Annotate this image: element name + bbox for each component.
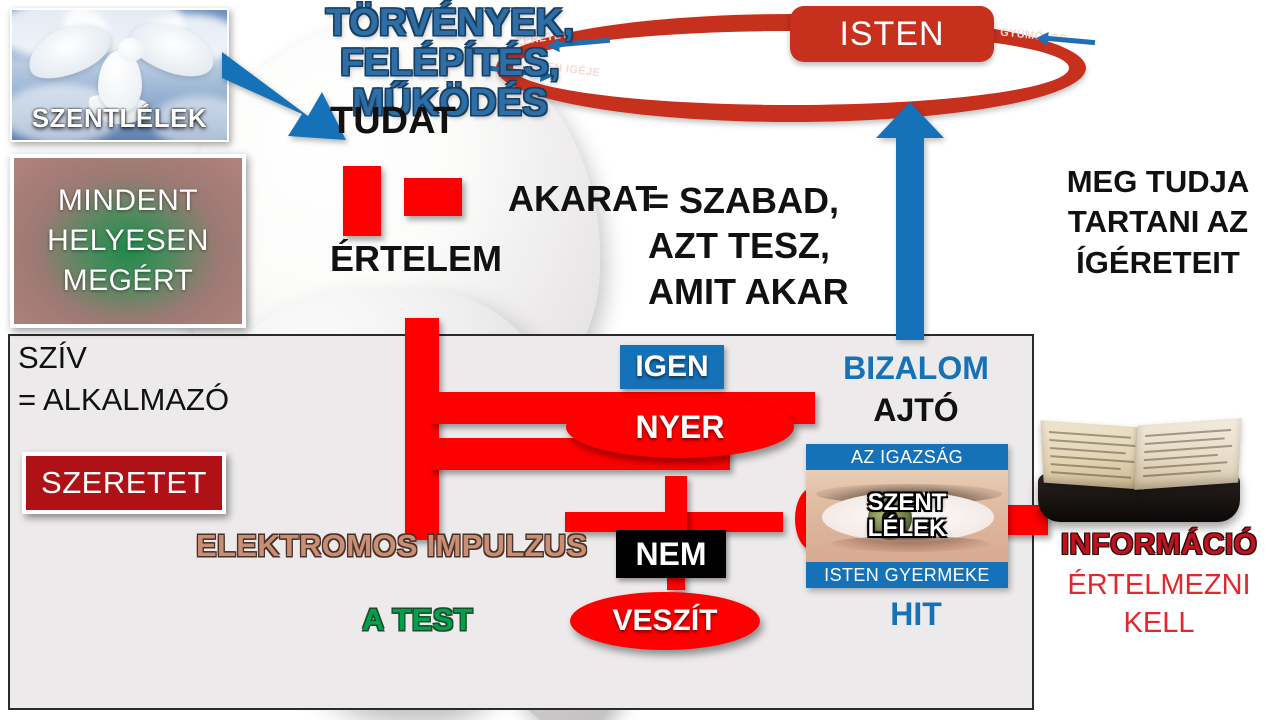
dove-head	[118, 38, 144, 62]
understand-line-2: HELYESEN	[47, 221, 209, 261]
must-interpret-line-2: KELL	[1050, 604, 1268, 642]
keeps-promises-text: MEG TUDJA TARTANI AZ ÍGÉRETEIT	[1048, 162, 1268, 283]
dove-photo-caption: SZENTLÉLEK	[12, 103, 227, 134]
arrow-intellect-to-will-shaft	[404, 178, 462, 216]
electrical-impulse-label: ELEKTROMOS IMPULZUS	[196, 528, 587, 564]
will-label: AKARAT	[508, 178, 657, 220]
eye-photo: SZENT LÉLEK	[806, 470, 1008, 562]
understand-line-1: MINDENT	[58, 181, 198, 221]
arrow-intellect-to-consciousness-shaft	[343, 166, 381, 236]
bible-right-page	[1134, 418, 1241, 490]
door-label: AJTÓ	[826, 392, 1006, 429]
consciousness-label: TUDAT	[330, 100, 456, 143]
understands-everything-correctly-box: MINDENT HELYESEN MEGÉRT	[10, 154, 246, 328]
truth-band: AZ IGAZSÁG	[806, 444, 1008, 470]
holy-spirit-overlay-line-1: SZENT	[868, 490, 947, 516]
will-definition-text: = SZABAD, AZT TESZ, AMIT AKAR	[648, 178, 878, 314]
diagram-canvas: SZERETET ISTEN IGÉJE GYÜMÖLCS ISTEN SZEN…	[0, 0, 1280, 720]
heart-role-label: = ALKALMAZÓ	[18, 382, 229, 418]
faith-label: HIT	[826, 596, 1006, 633]
child-of-god-band: ISTEN GYERMEKE	[806, 562, 1008, 588]
arrow-mind-body-shaft	[405, 318, 439, 540]
bible-left-page	[1040, 420, 1143, 489]
bible-photo	[1032, 416, 1246, 528]
heart-label: SZÍV	[18, 340, 87, 376]
understand-line-3: MEGÉRT	[63, 261, 194, 301]
faith-eye-card: AZ IGAZSÁG SZENT LÉLEK ISTEN GYERMEKE	[806, 444, 1008, 588]
must-interpret-text: ÉRTELMEZNI KELL	[1050, 566, 1268, 643]
love-badge: SZERETET	[22, 452, 226, 514]
information-title: INFORMÁCIÓ	[1054, 528, 1264, 562]
intellect-label: ÉRTELEM	[330, 238, 502, 280]
win-node[interactable]: NYER	[566, 396, 794, 458]
holy-spirit-overlay-line-2: LÉLEK	[868, 516, 947, 542]
blue-up-arrow-to-god-icon	[880, 88, 940, 338]
yes-node[interactable]: IGEN	[620, 345, 724, 389]
arrow-no-to-win-shaft	[665, 476, 687, 538]
lose-node[interactable]: VESZÍT	[570, 592, 760, 650]
god-label-pill: ISTEN	[790, 6, 994, 62]
holy-spirit-dove-photo: SZENTLÉLEK	[10, 8, 229, 142]
must-interpret-line-1: ÉRTELMEZNI	[1050, 566, 1268, 604]
trust-label: BIZALOM	[826, 350, 1006, 387]
holy-spirit-overlay: SZENT LÉLEK	[868, 490, 947, 542]
the-body-label: A TEST	[362, 602, 473, 638]
no-node[interactable]: NEM	[616, 530, 726, 578]
